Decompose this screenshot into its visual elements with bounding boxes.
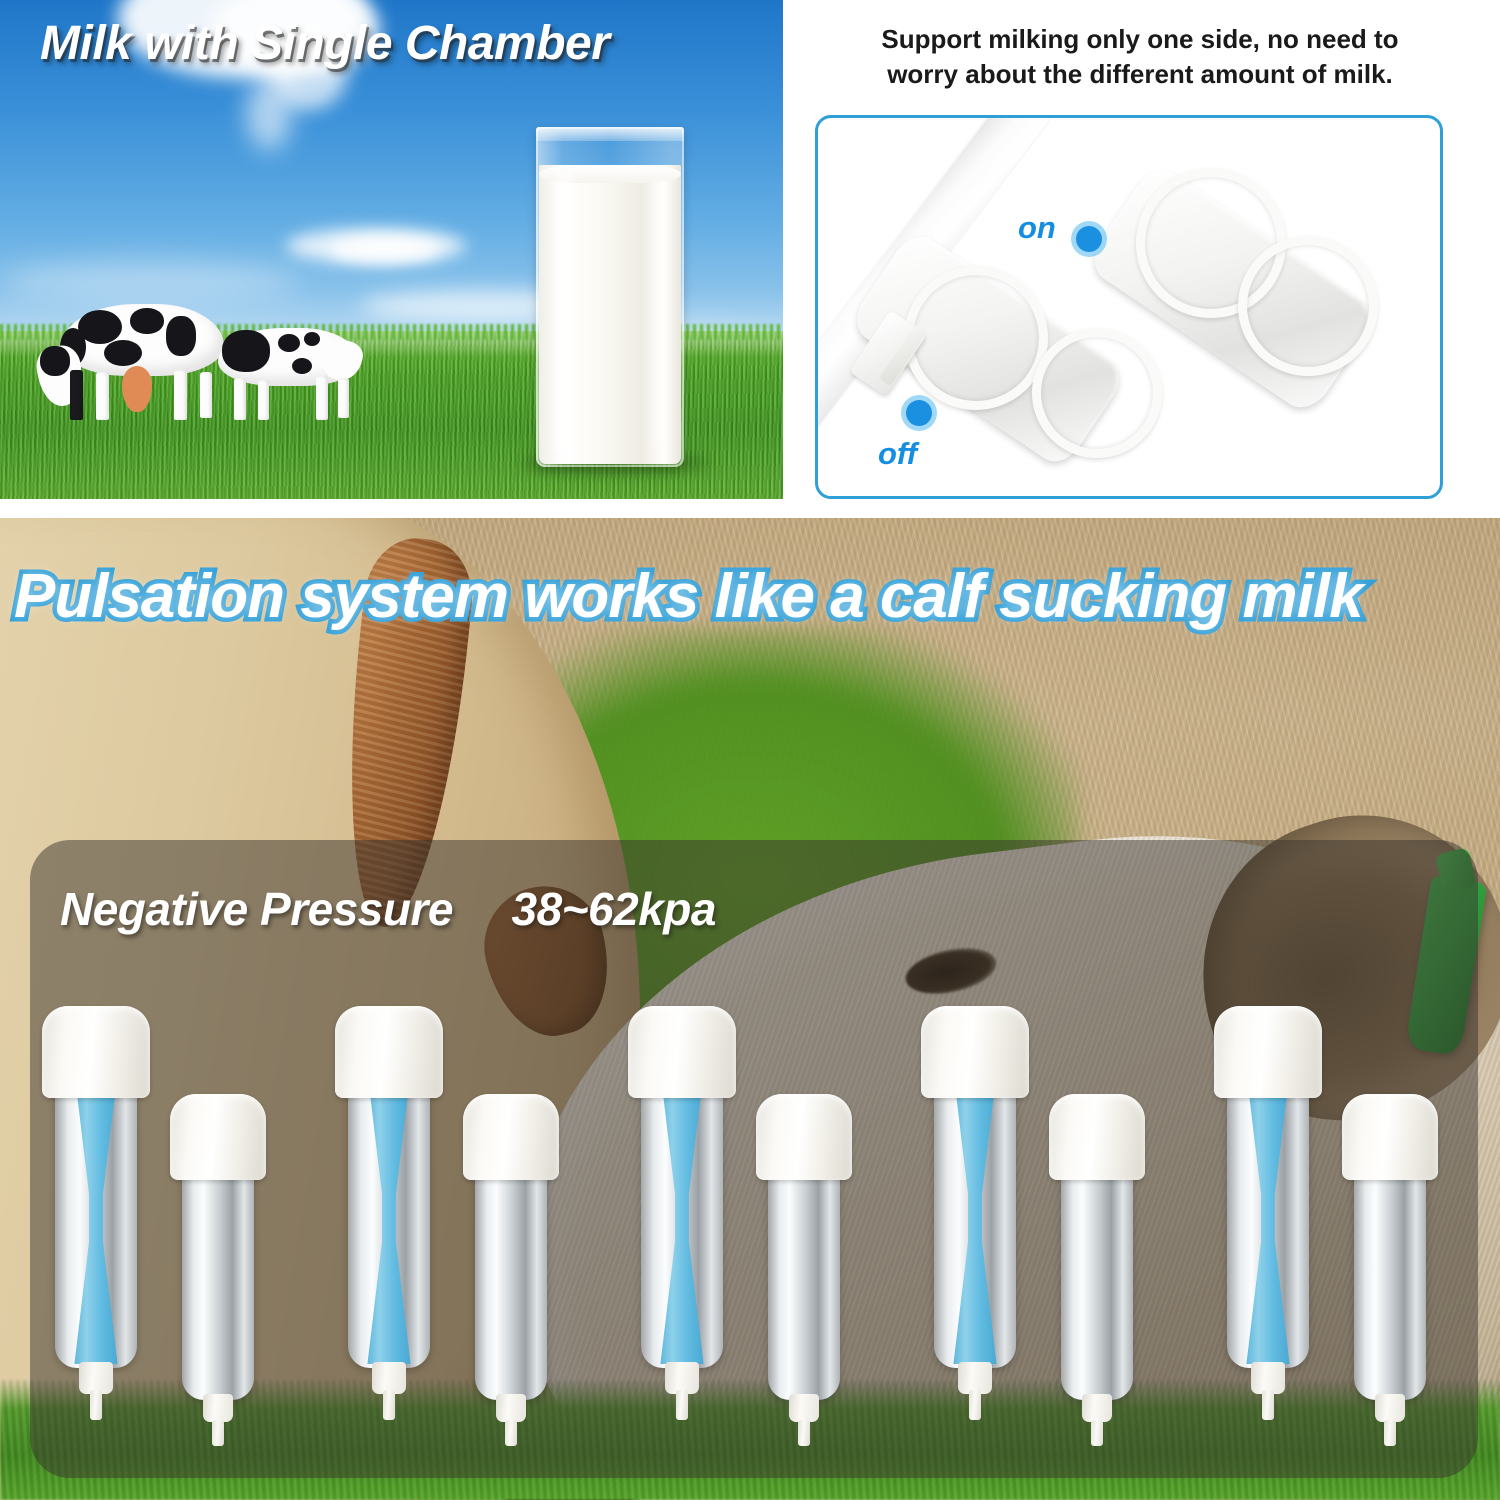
milk-glass bbox=[536, 127, 684, 467]
cow-figure bbox=[200, 318, 375, 424]
cows-and-milk-photo: Milk with Single Chamber bbox=[0, 0, 783, 499]
cup-tip bbox=[212, 1420, 224, 1446]
cup-outlet bbox=[1082, 1394, 1113, 1422]
cup-outlet bbox=[203, 1394, 234, 1422]
silicone-cap bbox=[921, 1006, 1029, 1098]
silicone-cap bbox=[756, 1094, 852, 1180]
top-right-caption: Support milking only one side, no need t… bbox=[820, 22, 1460, 93]
caption-line-1: Support milking only one side, no need t… bbox=[820, 22, 1460, 57]
milk-tube bbox=[815, 115, 818, 499]
teat-cup-plain bbox=[170, 1094, 266, 1430]
cloud-shape bbox=[246, 76, 292, 150]
teat-cup-with-liner bbox=[335, 1006, 443, 1426]
silicone-cap bbox=[1342, 1094, 1438, 1180]
glass-highlight bbox=[653, 175, 664, 447]
glass-rim bbox=[536, 127, 684, 141]
cup-outlet bbox=[1375, 1394, 1406, 1422]
stainless-shell bbox=[475, 1152, 548, 1400]
teat-cup-with-liner bbox=[628, 1006, 736, 1426]
cup-tip bbox=[90, 1390, 103, 1420]
off-marker-dot bbox=[906, 400, 932, 426]
teat-cup-with-liner bbox=[921, 1006, 1029, 1426]
on-marker-dot bbox=[1076, 226, 1102, 252]
calf-nursing-photo: Pulsation system works like a calf sucki… bbox=[0, 518, 1500, 1500]
cup-tip bbox=[505, 1420, 517, 1446]
cup-tip bbox=[1384, 1420, 1396, 1446]
product-infographic: Milk with Single Chamber Support milking… bbox=[0, 0, 1500, 1500]
teat-cup-plain bbox=[756, 1094, 852, 1430]
cup-tip bbox=[1262, 1390, 1275, 1420]
top-left-headline: Milk with Single Chamber bbox=[40, 16, 609, 71]
cup-tip bbox=[383, 1390, 396, 1420]
off-label: off bbox=[878, 436, 917, 472]
silicone-cap bbox=[170, 1094, 266, 1180]
teat-cup-with-liner bbox=[42, 1006, 150, 1426]
caption-line-2: worry about the different amount of milk… bbox=[820, 57, 1460, 92]
cup-tip bbox=[1091, 1420, 1103, 1446]
teat-cup-with-liner bbox=[1214, 1006, 1322, 1426]
silicone-cap bbox=[628, 1006, 736, 1098]
teat-cup-plain bbox=[463, 1094, 559, 1430]
cup-tip bbox=[969, 1390, 982, 1420]
teat-cup-plain bbox=[1049, 1094, 1145, 1430]
glass-highlight bbox=[554, 171, 574, 453]
silicone-cap bbox=[1214, 1006, 1322, 1098]
cloud-shape bbox=[330, 236, 440, 262]
silicone-cap bbox=[42, 1006, 150, 1098]
stainless-shell bbox=[1354, 1152, 1427, 1400]
milk-tube-clamp-diagram: on off bbox=[815, 115, 1443, 499]
stainless-shell bbox=[1061, 1152, 1134, 1400]
cup-outlet bbox=[789, 1394, 820, 1422]
silicone-cap bbox=[463, 1094, 559, 1180]
cup-tip bbox=[798, 1420, 810, 1446]
silicone-cap bbox=[335, 1006, 443, 1098]
cup-tip bbox=[676, 1390, 689, 1420]
teat-cup-plain bbox=[1342, 1094, 1438, 1430]
stainless-shell bbox=[182, 1152, 255, 1400]
on-label: on bbox=[1018, 210, 1056, 246]
teat-cup-row bbox=[0, 518, 1500, 1500]
cup-outlet bbox=[496, 1394, 527, 1422]
silicone-cap bbox=[1049, 1094, 1145, 1180]
stainless-shell bbox=[768, 1152, 841, 1400]
